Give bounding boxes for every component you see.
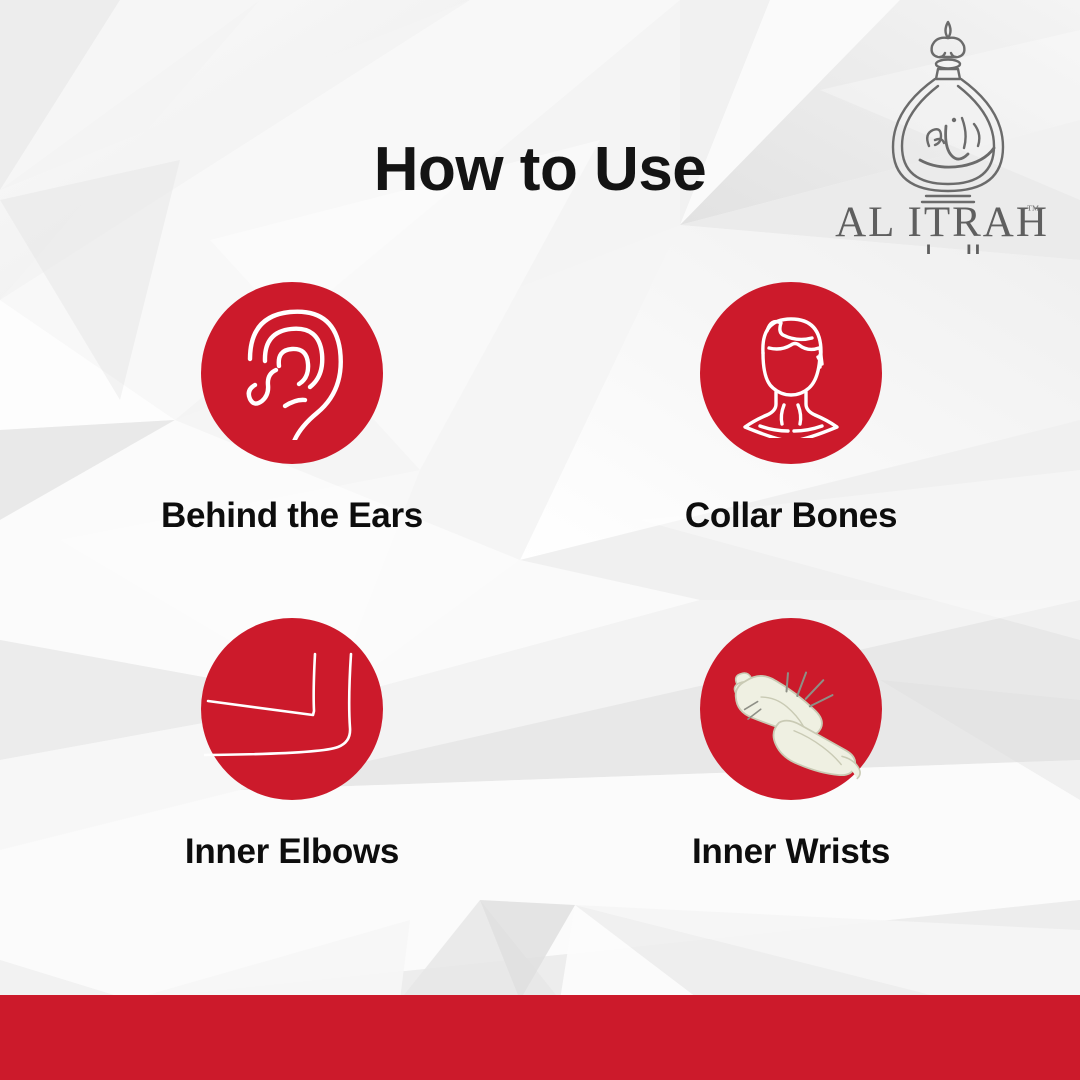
tip-label: Collar Bones [685, 498, 897, 533]
head-neck-collarbone-icon [726, 308, 856, 438]
tip-label: Inner Wrists [692, 834, 890, 869]
bottom-accent-bar [0, 995, 1080, 1080]
brand-name-arabic: العطر [904, 240, 982, 254]
brand-logo: AL ITRAH ™ العطر [834, 14, 1062, 254]
hands-wrists-icon [717, 635, 865, 783]
poster-canvas: AL ITRAH ™ العطر How to Use Behind the E… [0, 0, 1080, 1080]
how-to-use-grid: Behind the Ears [0, 282, 1080, 922]
tip-icon-circle [201, 618, 383, 800]
brand-trademark: ™ [1027, 202, 1040, 217]
tip-inner-elbows[interactable]: Inner Elbows [0, 618, 540, 922]
tip-icon-circle [700, 282, 882, 464]
bent-arm-elbow-icon [204, 621, 380, 797]
ear-icon [232, 306, 352, 440]
tip-collar-bones[interactable]: Collar Bones [540, 282, 1080, 586]
tip-label: Behind the Ears [161, 498, 423, 533]
tip-icon-circle [700, 618, 882, 800]
tip-icon-circle [201, 282, 383, 464]
tip-behind-the-ears[interactable]: Behind the Ears [0, 282, 540, 586]
tip-label: Inner Elbows [185, 834, 399, 869]
tip-inner-wrists[interactable]: Inner Wrists [540, 618, 1080, 922]
page-title: How to Use [0, 139, 1080, 201]
brand-name: AL ITRAH [835, 199, 1049, 246]
